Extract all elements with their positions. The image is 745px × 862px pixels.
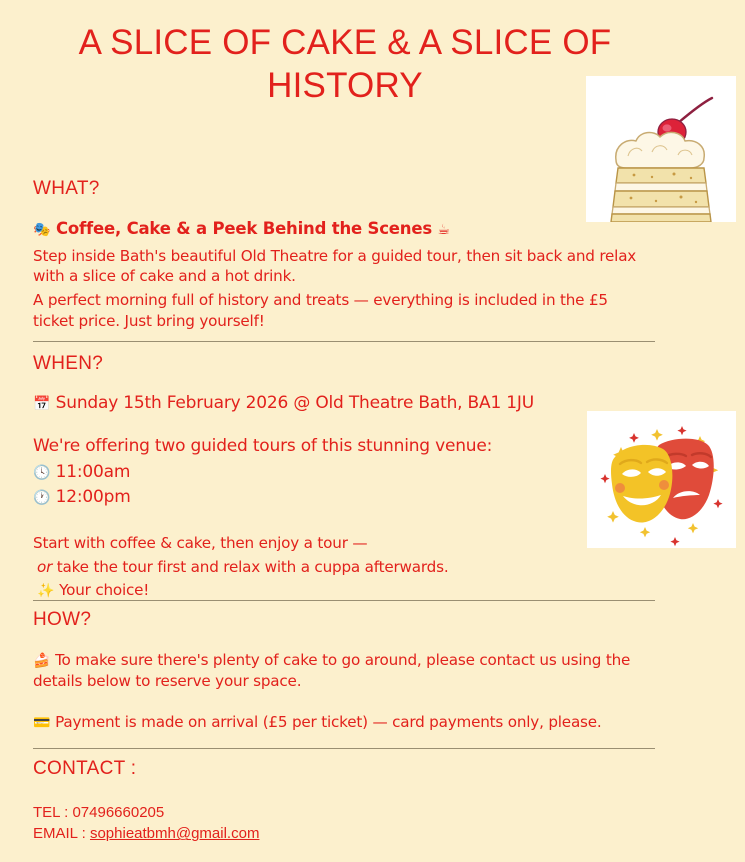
choice-line-3: ✨ Your choice! [33,580,534,601]
how-payment-line: 💳 Payment is made on arrival (£5 per tic… [33,712,653,733]
contact-tel: TEL : 07496660205 [33,802,259,823]
what-headline: 🎭 Coffee, Cake & a Peek Behind the Scene… [33,218,661,240]
credit-card-emoji-icon: 💳 [33,715,50,731]
tour-time-1-value: 11:00am [56,462,131,482]
how-reserve-text: To make sure there's plenty of cake to g… [33,651,630,690]
theatre-masks-icon [587,411,736,548]
email-link[interactable]: sophieatbmh@gmail.com [90,825,259,842]
calendar-emoji-icon: 📅 [33,396,50,412]
divider-contact [33,748,655,749]
contact-heading: CONTACT : [33,758,259,780]
page-title: A SLICE OF CAKE & A SLICE OF HISTORY [20,22,670,107]
coffee-emoji-icon: ☕ [438,222,451,238]
what-heading: WHAT? [33,178,661,200]
choice-line-2-rest: take the tour first and relax with a cup… [52,558,448,576]
when-heading: WHEN? [33,353,534,375]
section-when: WHEN? 📅 Sunday 15th February 2026 @ Old … [33,353,534,600]
tour-time-1: 🕓 11:00am [33,461,534,484]
what-paragraph-1: Step inside Bath's beautiful Old Theatre… [33,246,661,286]
how-payment-text: Payment is made on arrival (£5 per ticke… [50,713,601,731]
when-date-text: Sunday 15th February 2026 @ Old Theatre … [56,393,534,413]
what-headline-text: Coffee, Cake & a Peek Behind the Scenes [56,219,432,238]
when-tours-intro: We're offering two guided tours of this … [33,435,534,458]
section-what: WHAT? 🎭 Coffee, Cake & a Peek Behind the… [33,178,661,331]
clock-emoji-icon-1: 🕓 [33,465,50,481]
contact-email: EMAIL : sophieatbmh@gmail.com [33,823,259,844]
divider-how [33,600,655,601]
theatre-masks-illustration [587,411,736,548]
tel-label: TEL : [33,804,72,821]
tel-value: 07496660205 [72,804,164,821]
divider-when [33,341,655,342]
when-date-line: 📅 Sunday 15th February 2026 @ Old Theatr… [33,392,534,415]
choice-line-3-text: Your choice! [54,581,149,599]
section-contact: CONTACT : TEL : 07496660205 EMAIL : soph… [33,758,259,845]
choice-or-italic: or [37,558,52,576]
theatre-masks-emoji-icon: 🎭 [33,222,50,238]
choice-line-2: or take the tour first and relax with a … [33,557,534,577]
clock-emoji-icon-2: 🕐 [33,490,50,506]
comedy-mask [611,445,672,523]
tour-time-2: 🕐 12:00pm [33,486,534,509]
choice-line-1: Start with coffee & cake, then enjoy a t… [33,533,534,553]
how-heading: HOW? [33,609,653,631]
tour-time-2-value: 12:00pm [56,487,131,507]
email-label: EMAIL : [33,825,90,842]
cake-slice-emoji-icon: 🍰 [33,653,50,669]
poster-page: A SLICE OF CAKE & A SLICE OF HISTORY [0,0,745,862]
sparkles-emoji-icon: ✨ [37,583,54,599]
how-reserve-line: 🍰 To make sure there's plenty of cake to… [33,650,653,691]
what-paragraph-2: A perfect morning full of history and tr… [33,290,633,330]
section-how: HOW? 🍰 To make sure there's plenty of ca… [33,609,653,732]
